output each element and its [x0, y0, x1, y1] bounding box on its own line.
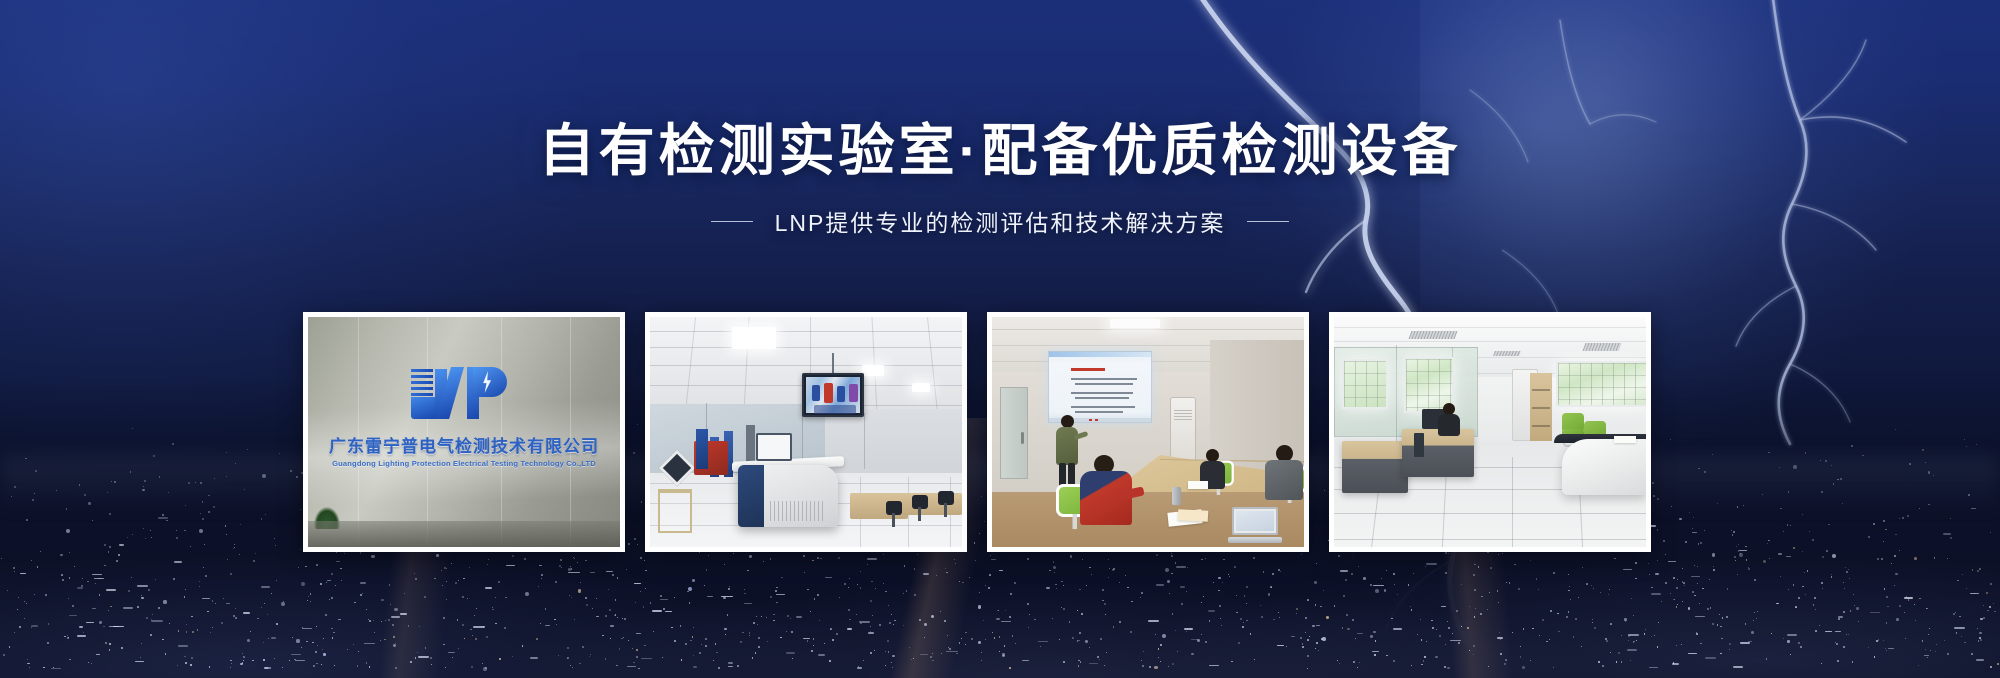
attendee-figure-1 [1078, 455, 1134, 525]
subtitle-row: LNP提供专业的检测评估和技术解决方案 [0, 204, 2000, 238]
thumbnail-meeting-room[interactable] [987, 312, 1309, 552]
attendee-figure-3 [1264, 445, 1304, 499]
photo-meeting-room [992, 317, 1304, 547]
signage-logo-block: 广东雷宁普电气检测技术有限公司 Guangdong Lighting Prote… [308, 367, 620, 468]
meeting-laptop [1228, 507, 1282, 543]
thumbnail-company-signage[interactable]: 广东雷宁普电气检测技术有限公司 Guangdong Lighting Prote… [303, 312, 625, 552]
banner-text-block: 自有检测实验室·配备优质检测设备 LNP提供专业的检测评估和技术解决方案 [0, 118, 2000, 238]
thumbnail-open-office[interactable] [1329, 312, 1651, 552]
presenter-figure [1054, 415, 1080, 491]
rule-right-icon [1247, 221, 1289, 222]
banner-subtitle: LNP提供专业的检测评估和技术解决方案 [775, 204, 1226, 238]
thumbnail-gallery: 广东雷宁普电气检测技术有限公司 Guangdong Lighting Prote… [303, 312, 1651, 552]
rule-left-icon [711, 221, 753, 222]
photo-open-office [1334, 317, 1646, 547]
office-worker-figure [1438, 403, 1460, 439]
office-window-right [1556, 361, 1646, 407]
page-title: 自有检测实验室·配备优质检测设备 [0, 118, 2000, 184]
lnp-logo-icon [411, 367, 517, 419]
signage-company-name-cn: 广东雷宁普电气检测技术有限公司 [308, 432, 620, 457]
lab-wall-monitor [802, 373, 864, 417]
photo-company-signage: 广东雷宁普电气检测技术有限公司 Guangdong Lighting Prote… [308, 317, 620, 547]
photo-testing-laboratory [650, 317, 962, 547]
thumbnail-testing-laboratory[interactable] [645, 312, 967, 552]
projector-screen [1048, 351, 1152, 423]
signage-company-name-en: Guangdong Lighting Protection Electrical… [308, 459, 620, 468]
hero-banner: 自有检测实验室·配备优质检测设备 LNP提供专业的检测评估和技术解决方案 [0, 0, 2000, 678]
